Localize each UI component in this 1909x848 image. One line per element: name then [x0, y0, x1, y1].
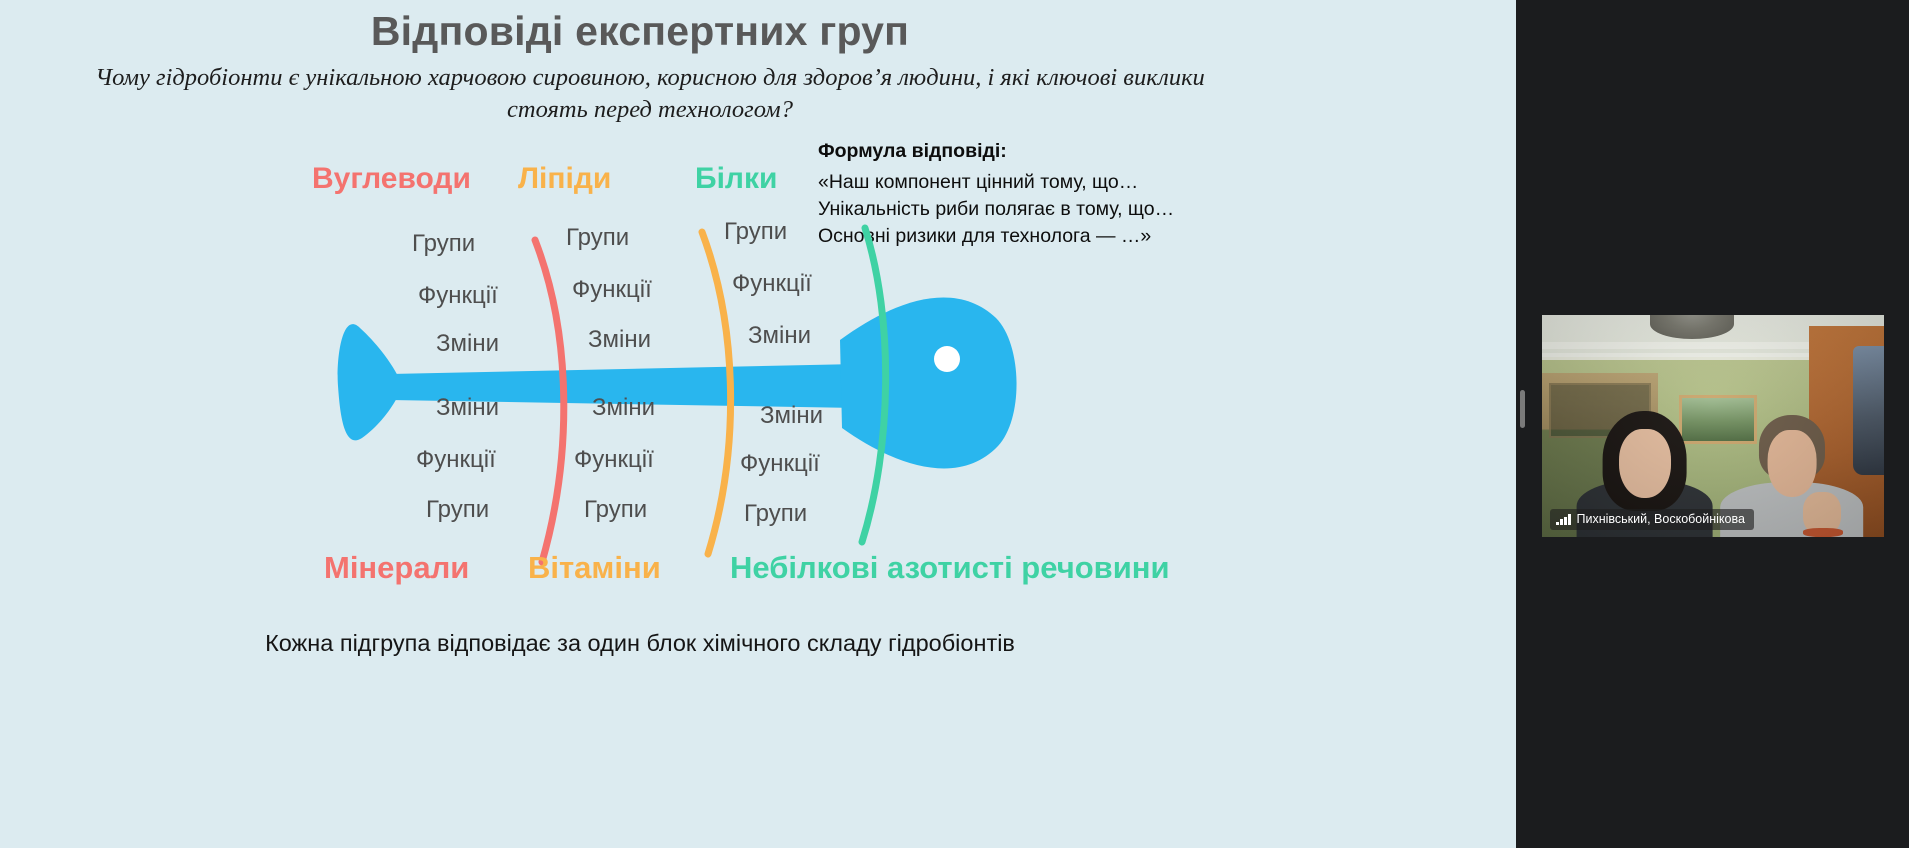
video-vignette	[1542, 315, 1884, 537]
rib-label-protein-functions: Функції	[732, 270, 812, 298]
fish-head-icon	[840, 298, 1017, 469]
page-title: Відповіді експертних груп	[60, 8, 1220, 55]
category-label-proteins: Білки	[695, 162, 777, 196]
screen-share-view: Відповіді експертних груп Чому гідробіон…	[0, 0, 1909, 848]
rib-label-carb-functions: Функції	[418, 282, 498, 310]
participant-name-badge: Пихнівський, Воскобойнікова	[1550, 509, 1754, 530]
rib-label-carb-changes: Зміни	[436, 330, 499, 358]
fishbone-diagram: Вуглеводи Ліпіди Білки Мінерали Вітаміни…	[240, 150, 1220, 620]
webcam-feed	[1542, 315, 1884, 537]
participant-video-tile[interactable]: Пихнівський, Воскобойнікова	[1542, 315, 1884, 537]
rib-label-npn-groups: Групи	[744, 500, 807, 528]
rib-label-protein-groups: Групи	[724, 218, 787, 246]
rib-label-protein-changes: Зміни	[748, 322, 811, 350]
slide-content: Відповіді експертних груп Чому гідробіон…	[60, 0, 1220, 848]
category-label-vitamins: Вітаміни	[528, 550, 661, 586]
rib-label-mineral-changes: Зміни	[436, 394, 499, 422]
rib-label-vitamin-functions: Функції	[574, 446, 654, 474]
rib-label-mineral-groups: Групи	[426, 496, 489, 524]
rib-label-lipid-changes: Зміни	[588, 326, 651, 354]
rib-label-vitamin-changes: Зміни	[592, 394, 655, 422]
rib-label-npn-functions: Функції	[740, 450, 820, 478]
video-tile-container: Пихнівський, Воскобойнікова	[1516, 300, 1909, 560]
rib-label-mineral-functions: Функції	[416, 446, 496, 474]
rib-label-npn-changes: Зміни	[760, 402, 823, 430]
slide-subtitle: Чому гідробіонти є унікальною харчовою с…	[60, 62, 1240, 126]
category-label-non-protein-nitrogen: Небілкові азотисті речовини	[730, 550, 1170, 586]
rib-label-vitamin-groups: Групи	[584, 496, 647, 524]
rib-label-lipid-functions: Функції	[572, 276, 652, 304]
slide-caption: Кожна підгрупа відповідає за один блок х…	[60, 630, 1220, 657]
category-label-lipids: Ліпіди	[518, 162, 611, 196]
shared-slide: Відповіді експертних груп Чому гідробіон…	[0, 0, 1516, 848]
rib-label-carb-groups: Групи	[412, 230, 475, 258]
category-label-minerals: Мінерали	[324, 550, 469, 586]
signal-bars-icon	[1556, 514, 1571, 525]
rib-label-lipid-groups: Групи	[566, 224, 629, 252]
participant-name-label: Пихнівський, Воскобойнікова	[1577, 512, 1745, 526]
category-label-carbohydrates: Вуглеводи	[312, 162, 471, 196]
fish-eye-icon	[934, 346, 960, 372]
